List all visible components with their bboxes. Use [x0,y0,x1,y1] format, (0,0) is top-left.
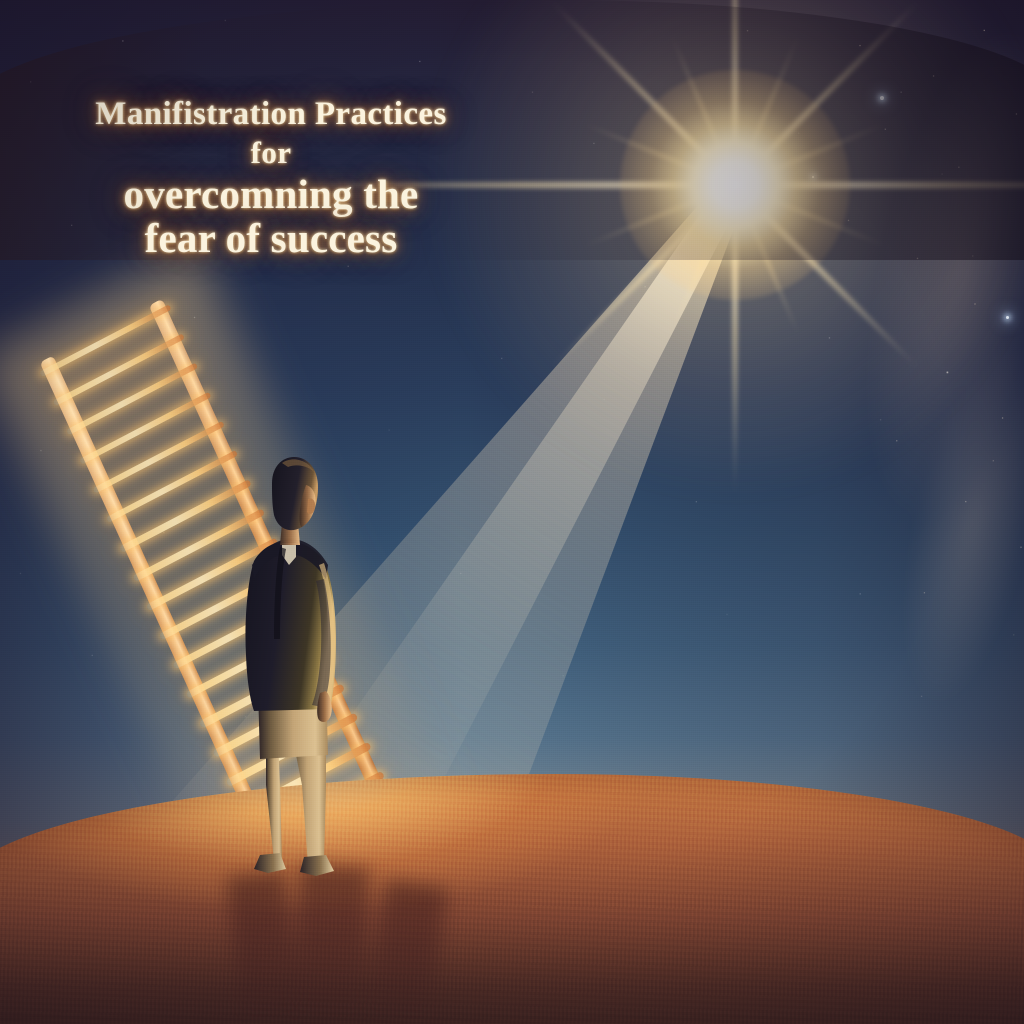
poster-canvas: Manifistration Practices for overcomning… [0,0,1024,1024]
film-grain-overlay [0,0,1024,1024]
